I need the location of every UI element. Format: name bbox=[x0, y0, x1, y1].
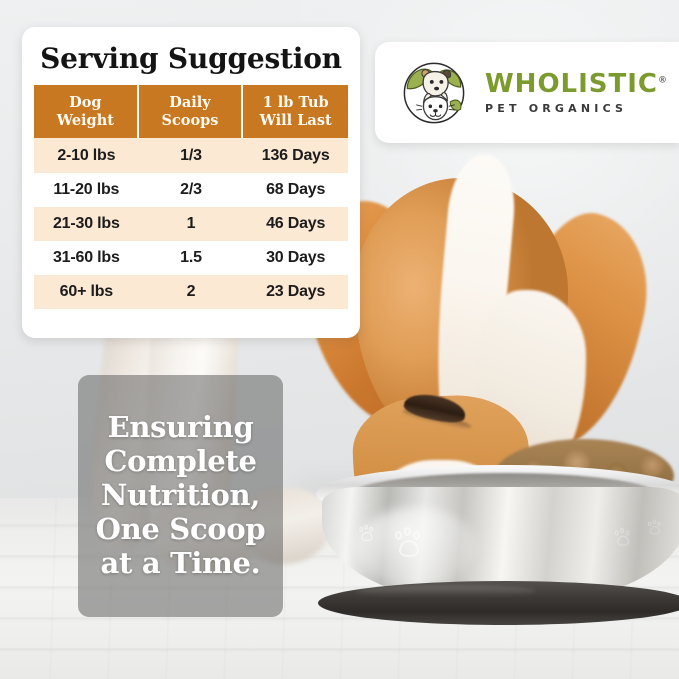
bowl-paw-print-icon bbox=[394, 527, 424, 561]
bowl-base-highlight bbox=[356, 585, 536, 597]
table-header-row: Dog Weight Daily Scoops 1 lb Tub Will La… bbox=[34, 85, 348, 137]
cell-daily-scoops: 2/3 bbox=[139, 173, 244, 207]
cell-dog-weight: 2-10 lbs bbox=[34, 138, 139, 173]
cell-tub-will-last: 68 Days bbox=[243, 173, 348, 207]
table-row: 11-20 lbs 2/3 68 Days bbox=[34, 173, 348, 207]
brand-name-text: WHOLISTIC bbox=[485, 69, 658, 99]
cell-tub-will-last: 46 Days bbox=[243, 207, 348, 241]
column-header-tub-will-last: 1 lb Tub Will Last bbox=[243, 85, 348, 137]
tagline-line-1: Ensuring bbox=[108, 410, 254, 444]
cell-dog-weight: 31-60 lbs bbox=[34, 241, 139, 275]
bowl-paw-print-far-right-icon bbox=[648, 520, 663, 537]
brand-wordmark: WHOLISTIC® PET ORGANICS bbox=[485, 71, 668, 115]
header-line-1: Dog bbox=[69, 94, 101, 111]
table-header: Dog Weight Daily Scoops 1 lb Tub Will La… bbox=[34, 85, 348, 137]
header-line-2: Weight bbox=[57, 112, 114, 129]
cell-tub-will-last: 136 Days bbox=[243, 138, 348, 173]
serving-suggestion-table: Dog Weight Daily Scoops 1 lb Tub Will La… bbox=[34, 85, 348, 308]
header-line-2: Will Last bbox=[260, 112, 332, 129]
cell-tub-will-last: 30 Days bbox=[243, 241, 348, 275]
bowl-paw-print-small-icon bbox=[359, 525, 376, 544]
brand-name: WHOLISTIC® bbox=[485, 71, 668, 97]
registered-trademark-symbol: ® bbox=[658, 75, 668, 85]
table-row: 60+ lbs 2 23 Days bbox=[34, 275, 348, 309]
cell-daily-scoops: 1 bbox=[139, 207, 244, 241]
brand-subtitle: PET ORGANICS bbox=[485, 102, 668, 115]
column-header-dog-weight: Dog Weight bbox=[34, 85, 139, 137]
tagline-line-4: One Scoop bbox=[96, 512, 266, 546]
cell-dog-weight: 11-20 lbs bbox=[34, 173, 139, 207]
table-row: 31-60 lbs 1.5 30 Days bbox=[34, 241, 348, 275]
header-line-1: 1 lb Tub bbox=[263, 94, 329, 111]
table-row: 2-10 lbs 1/3 136 Days bbox=[34, 138, 348, 173]
dog-food-bowl bbox=[316, 455, 679, 645]
bowl-paw-print-right-icon bbox=[614, 528, 632, 548]
table-row: 21-30 lbs 1 46 Days bbox=[34, 207, 348, 241]
cell-dog-weight: 60+ lbs bbox=[34, 275, 139, 309]
header-line-2: Scoops bbox=[162, 112, 219, 129]
cell-dog-weight: 21-30 lbs bbox=[34, 207, 139, 241]
serving-suggestion-card: Serving Suggestion Dog Weight Daily Scoo… bbox=[22, 27, 360, 338]
cell-daily-scoops: 1/3 bbox=[139, 138, 244, 173]
tagline-line-2: Complete bbox=[104, 444, 256, 478]
tagline-line-3: Nutrition, bbox=[101, 478, 260, 512]
cell-daily-scoops: 1.5 bbox=[139, 241, 244, 275]
cell-tub-will-last: 23 Days bbox=[243, 275, 348, 309]
brand-logo-card: WHOLISTIC® PET ORGANICS bbox=[375, 42, 679, 143]
column-header-daily-scoops: Daily Scoops bbox=[139, 85, 244, 137]
tagline-overlay: Ensuring Complete Nutrition, One Scoop a… bbox=[78, 375, 283, 617]
tagline-line-5: at a Time. bbox=[100, 546, 260, 580]
dog-and-cat-circle-logo-icon bbox=[397, 56, 471, 130]
page-title: Serving Suggestion bbox=[34, 44, 348, 73]
table-body: 2-10 lbs 1/3 136 Days 11-20 lbs 2/3 68 D… bbox=[34, 138, 348, 309]
header-line-1: Daily bbox=[169, 94, 210, 111]
cell-daily-scoops: 2 bbox=[139, 275, 244, 309]
tagline-text: Ensuring Complete Nutrition, One Scoop a… bbox=[90, 411, 272, 581]
